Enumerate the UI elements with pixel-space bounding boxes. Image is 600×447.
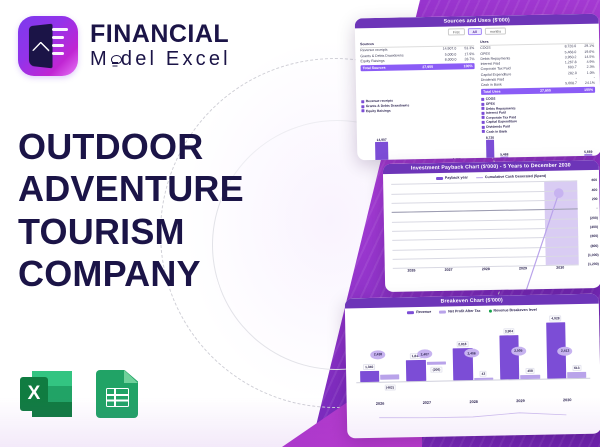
bar-value-label: 1,040 <box>363 363 375 369</box>
sources-total-label: Total Sources <box>363 66 386 70</box>
tab-months[interactable]: months <box>485 27 506 35</box>
legend-label: OPEX <box>486 102 495 106</box>
legend-swatch <box>361 105 364 108</box>
net-profit-bar: 408 <box>520 375 539 380</box>
sources-uses-tables: Sources Revenue receipts14,907.053.3%Gra… <box>355 35 600 98</box>
breakeven-bar-group: 1,040(462) <box>360 370 400 383</box>
y-axis-tick: (1,200) <box>588 262 599 266</box>
uses-total-value: 27,900 <box>525 89 551 93</box>
bar-value-label: 4,928 <box>550 316 562 322</box>
net-profit-bar: 43 <box>474 378 493 380</box>
lightbulb-icon <box>110 55 121 66</box>
legend-payback-year: Payback year <box>436 176 468 181</box>
sources-row-value: 14,907.0 <box>430 47 456 52</box>
net-profit-bar: (462) <box>380 370 400 380</box>
cover-canvas: FINANCIAL Mdel Excel OUTDOOR ADVENTURE T… <box>0 0 600 447</box>
page-title: OUTDOOR ADVENTURE TOURISM COMPANY <box>18 126 318 296</box>
uses-row-percent: 1.0% <box>577 70 595 75</box>
legend-label-cumulative-cash: Cumulative Cash Generated (Spent) <box>485 174 546 179</box>
title-line-2: ADVENTURE <box>18 168 318 210</box>
uses-row-value: 8,720.0 <box>550 45 576 50</box>
brand-line-2-suffix: del Excel <box>121 48 231 70</box>
legend-swatch <box>361 109 364 112</box>
sources-uses-legends: Revenue receiptsGrants & Debts Drawdowns… <box>356 93 600 136</box>
payback-plot-area: 600400200-(200)(400)(600)(800)(1,000)(1,… <box>391 181 579 269</box>
microsoft-excel-icon[interactable]: X <box>20 368 72 420</box>
uses-row-value: 5,468.0 <box>550 50 576 55</box>
revenue-bar: 1,848 <box>406 360 426 381</box>
bar-value-label: 14,907 <box>377 137 387 141</box>
legend-label-revenue: Revenue <box>416 310 431 314</box>
legend-swatch <box>361 100 364 103</box>
sources-table: Sources Revenue receipts14,907.053.3%Gra… <box>360 41 475 98</box>
bar-fill <box>380 375 399 380</box>
uses-row-value: 603.7 <box>551 66 577 71</box>
bar-value-label: 8,720 <box>486 135 494 139</box>
y-axis-tick: (400) <box>590 225 598 229</box>
y-axis-tick: (200) <box>590 216 598 220</box>
legend-swatch <box>481 102 484 105</box>
legend-label-net-profit: Net Profit After Tax <box>448 309 480 314</box>
legend-swatch <box>482 121 485 124</box>
uses-table: Uses COGS8,720.029.1%OPEX5,468.019.6%Deb… <box>480 38 595 95</box>
legend-swatch-cumulative-cash <box>476 177 483 178</box>
bar-fill <box>520 375 539 380</box>
bar-fill <box>486 140 495 160</box>
uses-row-percent: 24.1% <box>577 81 595 86</box>
chart-page-icon <box>29 24 53 69</box>
sources-bar-chart: 14,9075,0008,000 <box>363 135 476 160</box>
y-axis-tick: 200 <box>592 197 598 201</box>
tab-first[interactable]: First <box>448 28 465 36</box>
legend-swatch <box>481 107 484 110</box>
uses-row-percent: 14.5% <box>576 55 594 60</box>
y-axis-tick: (1,000) <box>588 253 599 257</box>
bar-fill <box>474 378 493 380</box>
sources-total-row: Total Sources 27,900 100% <box>361 63 475 71</box>
legend-label-breakeven-level: Revenue Breakeven level <box>494 308 537 313</box>
legend-swatch <box>482 130 485 133</box>
brand-line-1: FINANCIAL <box>90 21 231 47</box>
brand-line-2: Mdel Excel <box>90 48 231 71</box>
revenue-bar: 1,040 <box>360 370 380 382</box>
y-axis-tick: - <box>597 206 598 210</box>
sources-uses-bar-charts: 14,9075,0008,000 8,7205,4683,9501,268604… <box>357 132 600 160</box>
y-axis-tick: (800) <box>590 244 598 248</box>
legend-swatch-revenue <box>407 311 414 314</box>
sheets-table-glyph <box>106 388 129 407</box>
bar-value-label: 2,818 <box>456 341 468 347</box>
uses-row-percent: 2.3% <box>577 65 595 70</box>
uses-row-percent: - <box>577 76 595 81</box>
source-bar: 14,907 <box>375 142 389 160</box>
legend-swatch <box>482 116 485 119</box>
sources-total-pct: 100% <box>455 64 473 68</box>
bar-value-label: 5,669 <box>584 150 592 154</box>
y-axis-tick: 400 <box>592 188 598 192</box>
bar-value-label: (206) <box>431 366 442 372</box>
uses-row-percent: 19.6% <box>576 49 594 54</box>
google-sheets-icon[interactable] <box>92 368 144 420</box>
title-line-1: OUTDOOR <box>18 126 318 168</box>
uses-row-value: 5,668.7 <box>551 81 577 86</box>
sources-row-label: Equity Raisings <box>360 58 430 64</box>
payback-line-series <box>391 181 581 292</box>
bar-fill <box>375 142 389 160</box>
sources-legend: Revenue receiptsGrants & Debts Drawdowns… <box>361 98 476 137</box>
sources-row-percent: 17.9% <box>456 52 474 57</box>
y-axis-tick: (600) <box>590 234 598 238</box>
uses-row-percent: 4.9% <box>577 60 595 65</box>
breakeven-bar-group: 1,848(206) <box>406 360 446 382</box>
y-axis-tick: 600 <box>591 178 597 182</box>
uses-total-pct: 100% <box>575 88 593 92</box>
legend-revenue: Revenue <box>407 310 431 314</box>
legend-cumulative-cash: Cumulative Cash Generated (Spent) <box>476 174 546 179</box>
breakeven-plot-area: 1,040(462)2,4381,848(206)2,4072,818432,4… <box>355 316 591 402</box>
legend-label-payback-year: Payback year <box>445 176 468 180</box>
financial-model-excel-logo-icon <box>18 16 78 76</box>
uses-row-label: Cash in Bank <box>481 82 551 88</box>
tab-all[interactable]: All <box>467 28 481 36</box>
title-line-3: TOURISM <box>18 211 318 253</box>
uses-row-value: - <box>551 76 577 81</box>
use-bar: 8,720 <box>486 140 495 160</box>
bar-value-label: 5,468 <box>500 152 508 156</box>
legend-label: Equity Raisings <box>366 108 391 112</box>
bar-fill <box>360 370 380 382</box>
brand-logo[interactable]: FINANCIAL Mdel Excel <box>18 16 231 76</box>
legend-swatch-payback-year <box>436 177 443 180</box>
bar-value-label: 3,904 <box>503 328 515 334</box>
sources-row-percent: 53.3% <box>456 46 474 51</box>
dashboard-card-sources-and-uses[interactable]: Sources and Uses ($'000) First All month… <box>355 14 600 161</box>
brand-line-2-prefix: M <box>90 48 110 70</box>
sources-row-value: 8,000.0 <box>430 57 456 62</box>
uses-total-label: Total Uses <box>483 90 501 94</box>
bar-fill <box>427 362 446 364</box>
legend-net-profit: Net Profit After Tax <box>439 309 480 314</box>
payback-y-axis: 600400200-(200)(400)(600)(800)(1,000)(1,… <box>577 180 600 264</box>
bar-value-label: (462) <box>384 384 395 390</box>
file-format-badges: X <box>20 368 144 420</box>
document-lines-icon <box>52 28 70 64</box>
legend-breakeven-level: Revenue Breakeven level <box>489 308 537 313</box>
brand-wordmark: FINANCIAL Mdel Excel <box>90 21 231 70</box>
bar-value-label: 43 <box>480 371 487 377</box>
sources-row-value: 5,000.0 <box>430 52 456 57</box>
uses-row-value: 282.0 <box>551 71 577 76</box>
net-profit-bar: (206) <box>427 360 446 365</box>
dashboard-card-investment-payback[interactable]: Investment Payback Chart ($'000) - 5 Yea… <box>383 160 600 292</box>
legend-swatch-net-profit <box>439 311 446 314</box>
sources-total-value: 27,900 <box>407 65 433 69</box>
legend-swatch <box>481 112 484 115</box>
uses-legend: COGSOPEXDebts RepaymentsInterest PaidCor… <box>481 95 596 134</box>
bar-fill <box>406 360 426 381</box>
revenue-bar: 3,904 <box>499 335 519 380</box>
legend-label: Cash in Bank <box>486 129 507 133</box>
uses-row-value: 1,267.8 <box>551 60 577 65</box>
excel-x-glyph: X <box>20 377 48 411</box>
legend-swatch-breakeven-level <box>489 310 492 313</box>
legend-swatch <box>482 125 485 128</box>
legend-swatch <box>481 98 484 101</box>
title-line-4: COMPANY <box>18 253 318 295</box>
bar-fill <box>499 335 519 380</box>
sources-row-percent: 28.7% <box>456 57 474 62</box>
bar-value-label: 408 <box>525 368 534 374</box>
bar-fill <box>567 372 587 379</box>
dashboard-card-breakeven[interactable]: Breakeven Chart ($'000) Revenue Net Prof… <box>345 294 600 439</box>
net-profit-bar: 613 <box>567 372 587 379</box>
uses-row-value: 3,950.2 <box>550 55 576 60</box>
legend-item-source: Equity Raisings <box>361 107 475 113</box>
bar-value-label: 613 <box>572 365 581 371</box>
legend-label: COGS <box>486 97 496 101</box>
uses-row-percent: 29.1% <box>576 44 594 49</box>
breakeven-bar-group: 3,904408 <box>499 335 540 380</box>
